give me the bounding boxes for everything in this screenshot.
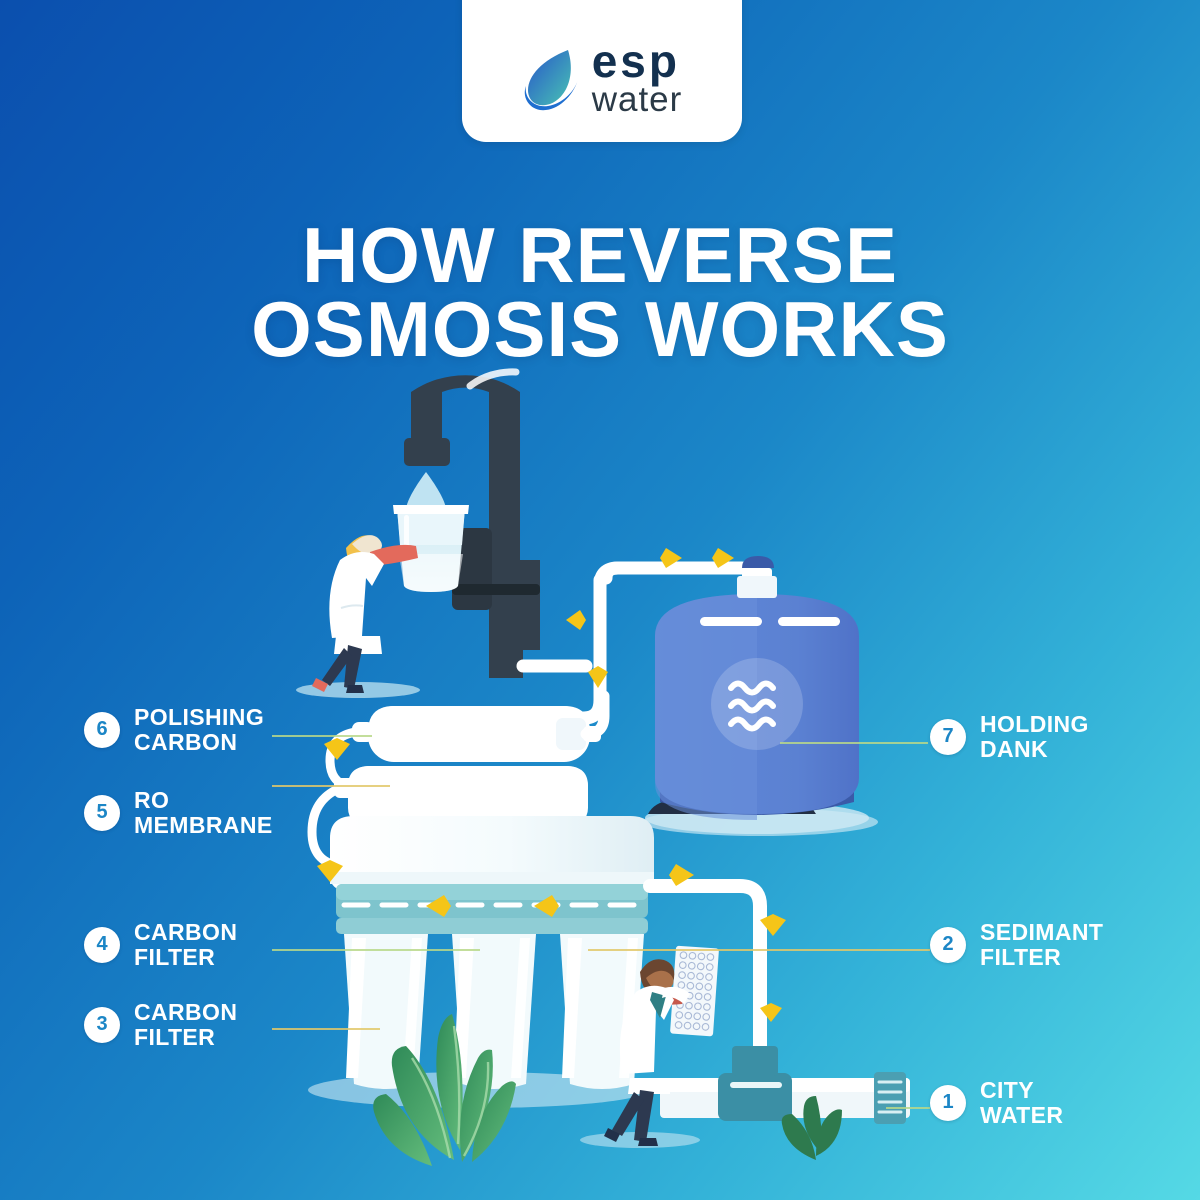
callout-badge-7: 7 [930, 719, 966, 755]
infographic-canvas: esp water HOW REVERSE OSMOSIS WORKS 6 PO… [0, 0, 1200, 1200]
callout-carbon-filter-4[interactable]: 4 CARBON FILTER [84, 920, 237, 970]
callout-city-water[interactable]: 1 CITY WATER [930, 1078, 1063, 1128]
title-line-2: OSMOSIS WORKS [0, 292, 1200, 366]
callout-badge-5: 5 [84, 795, 120, 831]
callout-badge-6: 6 [84, 712, 120, 748]
water-drop-leaf-icon [522, 42, 584, 114]
callout-sediment-filter[interactable]: 2 SEDIMANT FILTER [930, 920, 1103, 970]
title-line-1: HOW REVERSE [0, 218, 1200, 292]
callout-badge-3: 3 [84, 1007, 120, 1043]
callout-carbon-filter-3[interactable]: 3 CARBON FILTER [84, 1000, 237, 1050]
callout-holding-tank[interactable]: 7 HOLDING DANK [930, 712, 1089, 762]
leader-line-4 [272, 949, 480, 951]
leader-line-3 [272, 1028, 380, 1030]
callout-ro-membrane[interactable]: 5 RO MEMBRANE [84, 788, 273, 838]
callout-badge-4: 4 [84, 927, 120, 963]
callout-label-1: CITY WATER [980, 1078, 1063, 1128]
leader-line-2 [588, 949, 930, 951]
callout-badge-1: 1 [930, 1085, 966, 1121]
callout-label-6: POLISHING CARBON [134, 705, 264, 755]
leader-line-7 [780, 742, 928, 744]
leader-line-1 [886, 1107, 930, 1109]
brand-name-primary: esp [592, 40, 683, 82]
leader-line-5 [272, 785, 390, 787]
leader-line-6 [272, 735, 372, 737]
page-title: HOW REVERSE OSMOSIS WORKS [0, 218, 1200, 366]
brand-logo-card[interactable]: esp water [462, 0, 742, 142]
callout-label-3: CARBON FILTER [134, 1000, 237, 1050]
callout-badge-2: 2 [930, 927, 966, 963]
callout-polishing-carbon[interactable]: 6 POLISHING CARBON [84, 705, 264, 755]
callout-label-2: SEDIMANT FILTER [980, 920, 1103, 970]
callout-label-7: HOLDING DANK [980, 712, 1089, 762]
brand-name-secondary: water [592, 84, 683, 116]
callout-label-5: RO MEMBRANE [134, 788, 273, 838]
callout-label-4: CARBON FILTER [134, 920, 237, 970]
